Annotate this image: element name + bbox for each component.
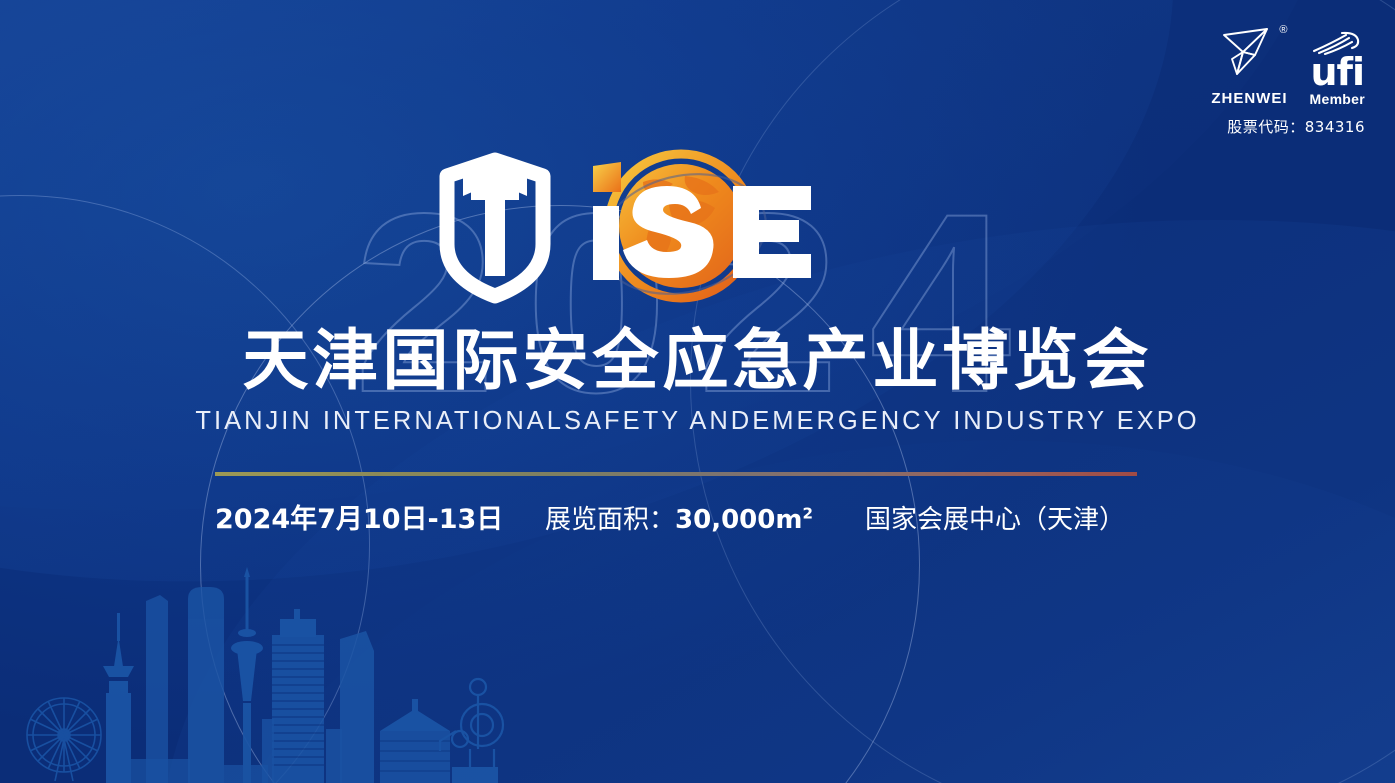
- exhibition-area-exponent: 2: [802, 504, 813, 522]
- registered-symbol: ®: [1279, 24, 1287, 36]
- page-title-chinese: 天津国际安全应急产业博览会: [0, 326, 1395, 396]
- zhenwei-bird-logo-icon: [1220, 22, 1278, 82]
- gradient-divider: [215, 472, 1137, 476]
- title-block: 天津国际安全应急产业博览会 TIANJIN INTERNATIONALSAFET…: [0, 326, 1395, 434]
- page-title-english: TIANJIN INTERNATIONALSAFETY ANDEMERGENCY…: [0, 409, 1395, 435]
- exhibition-area-unit: m: [775, 505, 802, 535]
- corner-marks: ® ZHENWEI ufi Member 股票代码：834316: [1211, 22, 1365, 137]
- ufi-member-label: Member: [1310, 91, 1365, 107]
- corner-marks-row: ® ZHENWEI ufi Member: [1211, 22, 1365, 107]
- info-row: 2024年7月10日-13日 展览面积：30,000m2 国家会展中心（天津）: [215, 497, 1137, 536]
- exhibition-area-label: 展览面积：: [545, 505, 675, 535]
- shield-letter-t: [463, 164, 527, 276]
- tise-logo: [0, 148, 1395, 308]
- logo-i-dot: [593, 162, 621, 192]
- event-venue: 国家会展中心（天津）: [865, 499, 1125, 536]
- zhenwei-name: ZHENWEI: [1211, 90, 1287, 107]
- tianjin-skyline-silhouette: [0, 553, 520, 783]
- logo-letter-e: [733, 186, 811, 278]
- ufi-mark: ufi Member: [1310, 31, 1365, 107]
- stock-code: 股票代码：834316: [1227, 116, 1365, 137]
- exhibition-area-value: 30,000: [675, 505, 775, 535]
- ufi-wordmark: ufi: [1310, 55, 1364, 90]
- exhibition-area: 展览面积：30,000m2: [545, 499, 865, 536]
- event-date: 2024年7月10日-13日: [215, 497, 545, 536]
- logo-letter-i: [593, 206, 619, 280]
- tise-logo-svg: [433, 148, 963, 308]
- background-swoosh-bottom-right-outer: [155, 379, 1395, 783]
- expo-banner: 2024: [0, 0, 1395, 783]
- zhenwei-mark: ® ZHENWEI: [1211, 22, 1287, 107]
